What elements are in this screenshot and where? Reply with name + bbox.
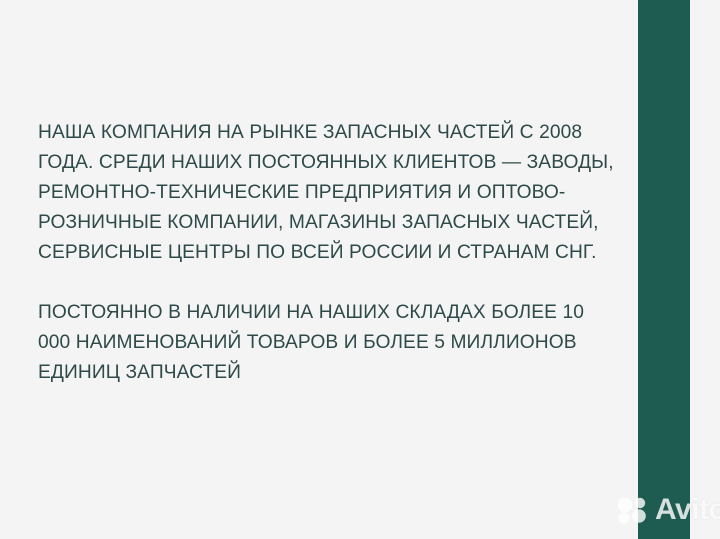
slide-canvas: НАША КОМПАНИЯ НА РЫНКЕ ЗАПАСНЫХ ЧАСТЕЙ С… <box>0 0 720 539</box>
text-block: НАША КОМПАНИЯ НА РЫНКЕ ЗАПАСНЫХ ЧАСТЕЙ С… <box>38 118 618 388</box>
paragraph-company-intro: НАША КОМПАНИЯ НА РЫНКЕ ЗАПАСНЫХ ЧАСТЕЙ С… <box>38 118 618 268</box>
paragraph-stock-info: ПОСТОЯННО В НАЛИЧИИ НА НАШИХ СКЛАДАХ БОЛ… <box>38 298 618 388</box>
accent-bar <box>638 0 690 539</box>
